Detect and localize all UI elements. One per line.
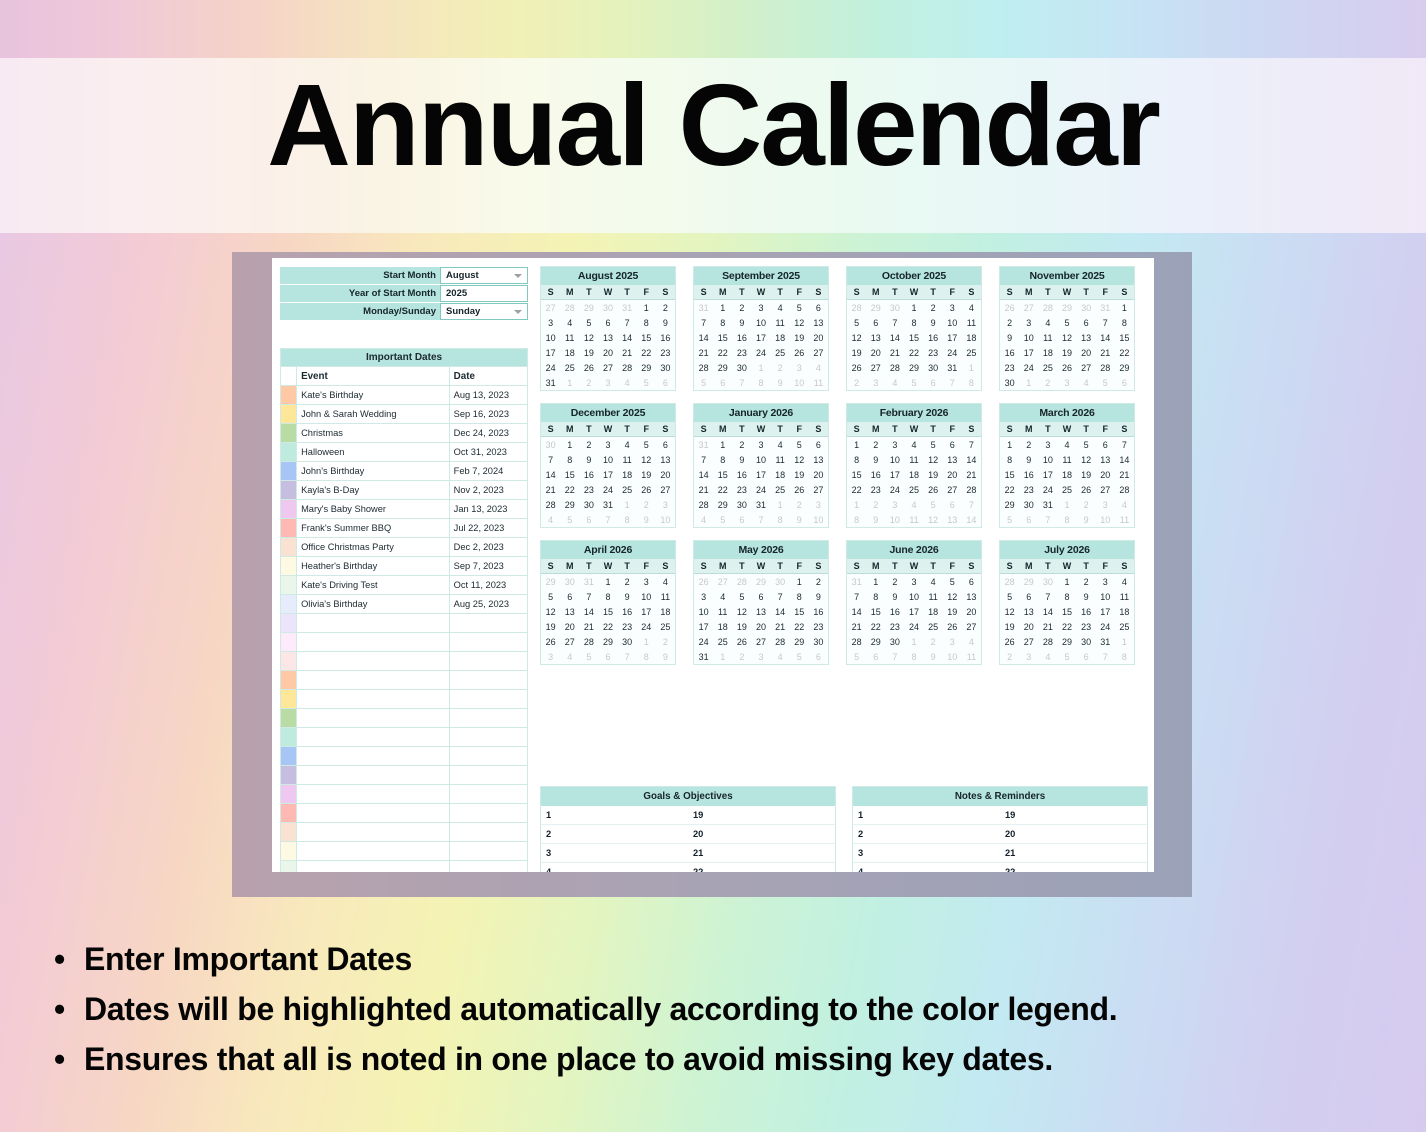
calendar-day[interactable]: 11 (771, 315, 790, 330)
event-row[interactable] (281, 766, 528, 785)
calendar-day-adjacent-month[interactable]: 1 (1115, 634, 1134, 649)
event-name-cell[interactable] (297, 823, 450, 842)
calendar-day[interactable]: 24 (751, 482, 770, 497)
calendar-day[interactable]: 17 (885, 467, 904, 482)
calendar-day-adjacent-month[interactable]: 4 (1115, 497, 1134, 512)
calendar-day[interactable]: 4 (904, 437, 923, 452)
calendar-day[interactable]: 21 (541, 482, 560, 497)
event-name-cell[interactable] (297, 671, 450, 690)
calendar-day[interactable]: 15 (637, 330, 656, 345)
calendar-day-adjacent-month[interactable]: 2 (732, 649, 751, 664)
calendar-day[interactable]: 23 (732, 482, 751, 497)
calendar-day[interactable]: 10 (904, 589, 923, 604)
setting-dropdown[interactable]: Sunday (440, 303, 528, 320)
calendar-day[interactable]: 11 (1057, 452, 1076, 467)
calendar-day[interactable]: 26 (847, 360, 866, 375)
calendar-day[interactable]: 2 (809, 574, 828, 589)
calendar-day[interactable]: 6 (560, 589, 579, 604)
calendar-day[interactable]: 20 (809, 330, 828, 345)
calendar-day[interactable]: 13 (962, 589, 981, 604)
calendar-day[interactable]: 21 (962, 467, 981, 482)
calendar-day[interactable]: 21 (1096, 345, 1115, 360)
calendar-day[interactable]: 4 (1115, 574, 1134, 589)
calendar-day-adjacent-month[interactable]: 30 (560, 574, 579, 589)
calendar-day-adjacent-month[interactable]: 10 (656, 512, 675, 527)
calendar-day[interactable]: 11 (713, 604, 732, 619)
event-row[interactable]: Mary's Baby ShowerJan 13, 2023 (281, 500, 528, 519)
event-date-cell[interactable] (449, 785, 527, 804)
calendar-day[interactable]: 7 (1038, 589, 1057, 604)
calendar-day[interactable]: 14 (885, 330, 904, 345)
calendar-day-adjacent-month[interactable]: 5 (637, 375, 656, 390)
calendar-day[interactable]: 24 (885, 482, 904, 497)
calendar-day[interactable]: 25 (1038, 360, 1057, 375)
setting-input[interactable]: 2025 (440, 285, 528, 302)
calendar-day[interactable]: 27 (1019, 634, 1038, 649)
calendar-day[interactable]: 17 (1019, 345, 1038, 360)
calendar-day[interactable]: 20 (598, 345, 617, 360)
calendar-day[interactable]: 30 (732, 497, 751, 512)
calendar-day[interactable]: 25 (713, 634, 732, 649)
calendar-day[interactable]: 23 (618, 619, 637, 634)
event-row[interactable]: John's BirthdayFeb 7, 2024 (281, 462, 528, 481)
calendar-day-adjacent-month[interactable]: 5 (713, 512, 732, 527)
calendar-day[interactable]: 5 (1000, 589, 1019, 604)
calendar-day[interactable]: 1 (637, 300, 656, 315)
calendar-day[interactable]: 30 (579, 497, 598, 512)
calendar-day[interactable]: 5 (943, 574, 962, 589)
event-date-cell[interactable]: Sep 7, 2023 (449, 557, 527, 576)
calendar-day[interactable]: 18 (962, 330, 981, 345)
event-row[interactable]: Kate's BirthdayAug 13, 2023 (281, 386, 528, 405)
calendar-day-adjacent-month[interactable]: 6 (1115, 375, 1134, 390)
calendar-day[interactable]: 23 (1019, 482, 1038, 497)
calendar-day[interactable]: 19 (1077, 467, 1096, 482)
calendar-day[interactable]: 8 (790, 589, 809, 604)
calendar-day[interactable]: 27 (809, 345, 828, 360)
calendar-day[interactable]: 5 (790, 437, 809, 452)
event-date-cell[interactable]: Oct 11, 2023 (449, 576, 527, 595)
calendar-day[interactable]: 20 (943, 467, 962, 482)
calendar-day[interactable]: 26 (732, 634, 751, 649)
event-date-cell[interactable]: Nov 2, 2023 (449, 481, 527, 500)
calendar-day[interactable]: 28 (885, 360, 904, 375)
calendar-day[interactable]: 25 (904, 482, 923, 497)
calendar-day[interactable]: 2 (1077, 574, 1096, 589)
calendar-day[interactable]: 28 (1096, 360, 1115, 375)
calendar-day[interactable]: 3 (541, 315, 560, 330)
calendar-day[interactable]: 24 (1019, 360, 1038, 375)
calendar-day[interactable]: 7 (694, 452, 713, 467)
calendar-day-adjacent-month[interactable]: 4 (904, 497, 923, 512)
calendar-day[interactable]: 2 (885, 574, 904, 589)
event-date-cell[interactable]: Dec 24, 2023 (449, 424, 527, 443)
calendar-day[interactable]: 24 (943, 345, 962, 360)
calendar-day[interactable]: 26 (1077, 482, 1096, 497)
event-date-cell[interactable] (449, 823, 527, 842)
calendar-day[interactable]: 1 (904, 300, 923, 315)
calendar-day[interactable]: 14 (1038, 604, 1057, 619)
calendar-day[interactable]: 27 (560, 634, 579, 649)
calendar-day-adjacent-month[interactable]: 7 (751, 512, 770, 527)
calendar-day-adjacent-month[interactable]: 26 (694, 574, 713, 589)
calendar-day[interactable]: 15 (1000, 467, 1019, 482)
calendar-day-adjacent-month[interactable]: 2 (847, 375, 866, 390)
calendar-day[interactable]: 21 (1115, 467, 1134, 482)
calendar-day[interactable]: 12 (637, 452, 656, 467)
note-item[interactable]: 3 (853, 844, 1000, 863)
calendar-day[interactable]: 17 (598, 467, 617, 482)
calendar-day-adjacent-month[interactable]: 30 (885, 300, 904, 315)
calendar-day[interactable]: 27 (751, 634, 770, 649)
calendar-day[interactable]: 21 (694, 482, 713, 497)
event-name-cell[interactable]: Christmas (297, 424, 450, 443)
calendar-day[interactable]: 12 (732, 604, 751, 619)
calendar-day[interactable]: 20 (866, 345, 885, 360)
calendar-day[interactable]: 15 (560, 467, 579, 482)
calendar-day[interactable]: 1 (1115, 300, 1134, 315)
calendar-day[interactable]: 11 (560, 330, 579, 345)
event-row[interactable]: Office Christmas PartyDec 2, 2023 (281, 538, 528, 557)
calendar-day[interactable]: 2 (618, 574, 637, 589)
calendar-day-adjacent-month[interactable]: 7 (962, 497, 981, 512)
calendar-day-adjacent-month[interactable]: 12 (924, 512, 943, 527)
calendar-day[interactable]: 5 (1077, 437, 1096, 452)
calendar-day[interactable]: 8 (904, 315, 923, 330)
goal-item[interactable]: 20 (688, 825, 835, 844)
calendar-day[interactable]: 29 (1115, 360, 1134, 375)
calendar-day[interactable]: 19 (541, 619, 560, 634)
calendar-day[interactable]: 14 (694, 330, 713, 345)
event-name-cell[interactable] (297, 766, 450, 785)
calendar-day-adjacent-month[interactable]: 6 (713, 375, 732, 390)
calendar-day-adjacent-month[interactable]: 9 (771, 375, 790, 390)
calendar-day[interactable]: 17 (1096, 604, 1115, 619)
calendar-day[interactable]: 15 (1057, 604, 1076, 619)
event-row[interactable] (281, 633, 528, 652)
goal-item[interactable]: 3 (541, 844, 688, 863)
calendar-day[interactable]: 20 (560, 619, 579, 634)
event-date-cell[interactable] (449, 842, 527, 861)
calendar-day[interactable]: 12 (541, 604, 560, 619)
calendar-day[interactable]: 6 (943, 437, 962, 452)
calendar-day-adjacent-month[interactable]: 3 (598, 375, 617, 390)
calendar-day[interactable]: 14 (541, 467, 560, 482)
event-date-cell[interactable] (449, 747, 527, 766)
event-row[interactable] (281, 652, 528, 671)
calendar-day[interactable]: 24 (904, 619, 923, 634)
calendar-day[interactable]: 22 (904, 345, 923, 360)
calendar-day-adjacent-month[interactable]: 30 (771, 574, 790, 589)
note-item[interactable]: 4 (853, 863, 1000, 872)
calendar-day-adjacent-month[interactable]: 1 (713, 649, 732, 664)
calendar-day[interactable]: 9 (579, 452, 598, 467)
calendar-day-adjacent-month[interactable]: 5 (1057, 649, 1076, 664)
calendar-day-adjacent-month[interactable]: 7 (1038, 512, 1057, 527)
calendar-day[interactable]: 7 (1115, 437, 1134, 452)
calendar-day[interactable]: 27 (1077, 360, 1096, 375)
calendar-day-adjacent-month[interactable]: 8 (1115, 649, 1134, 664)
calendar-day[interactable]: 14 (1115, 452, 1134, 467)
calendar-day-adjacent-month[interactable]: 2 (637, 497, 656, 512)
calendar-day-adjacent-month[interactable]: 6 (943, 497, 962, 512)
note-item[interactable]: 2 (853, 825, 1000, 844)
calendar-day[interactable]: 15 (598, 604, 617, 619)
calendar-day[interactable]: 3 (694, 589, 713, 604)
calendar-day[interactable]: 31 (943, 360, 962, 375)
calendar-day[interactable]: 2 (732, 437, 751, 452)
calendar-day[interactable]: 18 (904, 467, 923, 482)
event-row[interactable] (281, 861, 528, 873)
event-name-cell[interactable] (297, 861, 450, 873)
event-row[interactable]: Frank's Summer BBQJul 22, 2023 (281, 519, 528, 538)
calendar-day[interactable]: 13 (1019, 604, 1038, 619)
calendar-day[interactable]: 17 (751, 467, 770, 482)
calendar-day[interactable]: 16 (1019, 467, 1038, 482)
calendar-day[interactable]: 24 (637, 619, 656, 634)
calendar-day[interactable]: 21 (1038, 619, 1057, 634)
calendar-day[interactable]: 27 (1096, 482, 1115, 497)
calendar-day[interactable]: 2 (924, 300, 943, 315)
event-name-cell[interactable] (297, 633, 450, 652)
calendar-day[interactable]: 6 (598, 315, 617, 330)
calendar-day-adjacent-month[interactable]: 4 (809, 360, 828, 375)
event-row[interactable]: ChristmasDec 24, 2023 (281, 424, 528, 443)
calendar-day[interactable]: 7 (771, 589, 790, 604)
event-name-cell[interactable] (297, 709, 450, 728)
calendar-day-adjacent-month[interactable]: 8 (847, 512, 866, 527)
calendar-day-adjacent-month[interactable]: 3 (541, 649, 560, 664)
calendar-day[interactable]: 27 (656, 482, 675, 497)
event-name-cell[interactable] (297, 804, 450, 823)
calendar-day[interactable]: 2 (579, 437, 598, 452)
calendar-day[interactable]: 25 (924, 619, 943, 634)
calendar-day[interactable]: 15 (713, 467, 732, 482)
calendar-day[interactable]: 28 (1038, 634, 1057, 649)
calendar-day[interactable]: 5 (1057, 315, 1076, 330)
event-date-cell[interactable]: Dec 2, 2023 (449, 538, 527, 557)
calendar-day[interactable]: 6 (809, 300, 828, 315)
calendar-day[interactable]: 16 (924, 330, 943, 345)
calendar-day[interactable]: 29 (713, 497, 732, 512)
calendar-day[interactable]: 8 (713, 315, 732, 330)
calendar-day[interactable]: 26 (637, 482, 656, 497)
calendar-day[interactable]: 15 (847, 467, 866, 482)
calendar-day-adjacent-month[interactable]: 8 (618, 512, 637, 527)
calendar-day-adjacent-month[interactable]: 1 (618, 497, 637, 512)
setting-dropdown[interactable]: August (440, 267, 528, 284)
calendar-day[interactable]: 1 (713, 300, 732, 315)
calendar-day[interactable]: 17 (904, 604, 923, 619)
calendar-day[interactable]: 14 (962, 452, 981, 467)
calendar-day[interactable]: 18 (1115, 604, 1134, 619)
calendar-day[interactable]: 6 (1077, 315, 1096, 330)
calendar-day-adjacent-month[interactable]: 3 (790, 360, 809, 375)
calendar-day[interactable]: 5 (847, 315, 866, 330)
calendar-day[interactable]: 17 (694, 619, 713, 634)
calendar-day[interactable]: 24 (751, 345, 770, 360)
calendar-day[interactable]: 24 (1038, 482, 1057, 497)
event-name-cell[interactable]: John & Sarah Wedding (297, 405, 450, 424)
calendar-day-adjacent-month[interactable]: 4 (771, 649, 790, 664)
calendar-day[interactable]: 30 (1019, 497, 1038, 512)
calendar-day-adjacent-month[interactable]: 4 (962, 634, 981, 649)
calendar-day[interactable]: 11 (962, 315, 981, 330)
calendar-day-adjacent-month[interactable]: 6 (656, 375, 675, 390)
calendar-day[interactable]: 13 (943, 452, 962, 467)
calendar-day-adjacent-month[interactable]: 1 (751, 360, 770, 375)
event-date-cell[interactable]: Sep 16, 2023 (449, 405, 527, 424)
calendar-day-adjacent-month[interactable]: 4 (618, 375, 637, 390)
calendar-day[interactable]: 5 (637, 437, 656, 452)
calendar-day[interactable]: 3 (598, 437, 617, 452)
calendar-day[interactable]: 3 (885, 437, 904, 452)
calendar-day[interactable]: 8 (1115, 315, 1134, 330)
calendar-day[interactable]: 14 (694, 467, 713, 482)
calendar-day-adjacent-month[interactable]: 26 (1000, 300, 1019, 315)
event-name-cell[interactable]: Frank's Summer BBQ (297, 519, 450, 538)
calendar-day[interactable]: 16 (618, 604, 637, 619)
calendar-day[interactable]: 15 (1115, 330, 1134, 345)
calendar-day[interactable]: 13 (751, 604, 770, 619)
event-row[interactable]: Olivia's BirthdayAug 25, 2023 (281, 595, 528, 614)
calendar-day-adjacent-month[interactable]: 2 (790, 497, 809, 512)
chevron-down-icon[interactable] (514, 274, 522, 278)
calendar-day[interactable]: 16 (1000, 345, 1019, 360)
calendar-day[interactable]: 15 (866, 604, 885, 619)
calendar-day[interactable]: 26 (943, 619, 962, 634)
calendar-day[interactable]: 20 (656, 467, 675, 482)
calendar-day-adjacent-month[interactable]: 2 (579, 375, 598, 390)
calendar-day-adjacent-month[interactable]: 11 (1115, 512, 1134, 527)
calendar-day[interactable]: 30 (885, 634, 904, 649)
calendar-day[interactable]: 1 (866, 574, 885, 589)
event-name-cell[interactable]: Olivia's Birthday (297, 595, 450, 614)
calendar-day[interactable]: 17 (541, 345, 560, 360)
calendar-day[interactable]: 27 (866, 360, 885, 375)
note-item[interactable]: 19 (1000, 806, 1147, 825)
calendar-day[interactable]: 20 (1096, 467, 1115, 482)
event-date-cell[interactable] (449, 671, 527, 690)
calendar-day[interactable]: 20 (751, 619, 770, 634)
calendar-day[interactable]: 25 (1057, 482, 1076, 497)
calendar-day[interactable]: 14 (847, 604, 866, 619)
calendar-day[interactable]: 9 (809, 589, 828, 604)
goal-item[interactable]: 19 (688, 806, 835, 825)
calendar-day[interactable]: 10 (885, 452, 904, 467)
calendar-day[interactable]: 19 (1057, 345, 1076, 360)
calendar-day[interactable]: 29 (904, 360, 923, 375)
calendar-day[interactable]: 22 (866, 619, 885, 634)
calendar-day-adjacent-month[interactable]: 2 (866, 497, 885, 512)
calendar-day-adjacent-month[interactable]: 3 (885, 497, 904, 512)
calendar-day[interactable]: 6 (656, 437, 675, 452)
calendar-day[interactable]: 19 (790, 467, 809, 482)
calendar-day[interactable]: 3 (1038, 437, 1057, 452)
calendar-day-adjacent-month[interactable]: 6 (809, 649, 828, 664)
calendar-day[interactable]: 20 (809, 467, 828, 482)
calendar-day[interactable]: 8 (866, 589, 885, 604)
calendar-day[interactable]: 11 (618, 452, 637, 467)
calendar-day[interactable]: 15 (790, 604, 809, 619)
calendar-day-adjacent-month[interactable]: 8 (771, 512, 790, 527)
calendar-day[interactable]: 28 (541, 497, 560, 512)
goal-item[interactable]: 4 (541, 863, 688, 872)
calendar-day[interactable]: 9 (885, 589, 904, 604)
calendar-day[interactable]: 20 (962, 604, 981, 619)
calendar-day-adjacent-month[interactable]: 8 (637, 649, 656, 664)
calendar-day[interactable]: 27 (598, 360, 617, 375)
calendar-day[interactable]: 13 (656, 452, 675, 467)
calendar-day-adjacent-month[interactable]: 10 (943, 649, 962, 664)
event-name-cell[interactable]: Office Christmas Party (297, 538, 450, 557)
calendar-day[interactable]: 7 (1096, 315, 1115, 330)
calendar-day[interactable]: 19 (1000, 619, 1019, 634)
calendar-day[interactable]: 30 (618, 634, 637, 649)
calendar-day[interactable]: 26 (1057, 360, 1076, 375)
calendar-day[interactable]: 9 (618, 589, 637, 604)
calendar-day[interactable]: 18 (1057, 467, 1076, 482)
calendar-day-adjacent-month[interactable]: 9 (656, 649, 675, 664)
calendar-day[interactable]: 18 (656, 604, 675, 619)
calendar-day[interactable]: 12 (1000, 604, 1019, 619)
calendar-day[interactable]: 28 (771, 634, 790, 649)
event-date-cell[interactable]: Oct 31, 2023 (449, 443, 527, 462)
calendar-day[interactable]: 4 (713, 589, 732, 604)
calendar-day[interactable]: 13 (598, 330, 617, 345)
calendar-day[interactable]: 14 (1096, 330, 1115, 345)
calendar-day[interactable]: 11 (1115, 589, 1134, 604)
calendar-day-adjacent-month[interactable]: 3 (943, 634, 962, 649)
calendar-day[interactable]: 4 (560, 315, 579, 330)
calendar-day[interactable]: 16 (866, 467, 885, 482)
calendar-day-adjacent-month[interactable]: 31 (579, 574, 598, 589)
calendar-day[interactable]: 10 (1096, 589, 1115, 604)
calendar-day[interactable]: 2 (1000, 315, 1019, 330)
calendar-day[interactable]: 9 (1077, 589, 1096, 604)
calendar-day[interactable]: 18 (771, 467, 790, 482)
calendar-day[interactable]: 3 (1019, 315, 1038, 330)
calendar-day-adjacent-month[interactable]: 5 (579, 649, 598, 664)
calendar-day[interactable]: 4 (962, 300, 981, 315)
calendar-day-adjacent-month[interactable]: 4 (541, 512, 560, 527)
event-date-cell[interactable] (449, 861, 527, 873)
calendar-day[interactable]: 16 (885, 604, 904, 619)
calendar-day-adjacent-month[interactable]: 6 (1019, 512, 1038, 527)
calendar-day-adjacent-month[interactable]: 30 (541, 437, 560, 452)
calendar-day-adjacent-month[interactable]: 28 (1000, 574, 1019, 589)
calendar-day[interactable]: 26 (1000, 634, 1019, 649)
calendar-day-adjacent-month[interactable]: 4 (694, 512, 713, 527)
calendar-day-adjacent-month[interactable]: 2 (771, 360, 790, 375)
calendar-day[interactable]: 28 (694, 497, 713, 512)
calendar-day[interactable]: 25 (656, 619, 675, 634)
calendar-day[interactable]: 26 (541, 634, 560, 649)
event-row[interactable] (281, 785, 528, 804)
calendar-day-adjacent-month[interactable]: 1 (847, 497, 866, 512)
calendar-day[interactable]: 9 (732, 452, 751, 467)
calendar-day-adjacent-month[interactable]: 27 (541, 300, 560, 315)
calendar-day[interactable]: 23 (732, 345, 751, 360)
calendar-day[interactable]: 5 (541, 589, 560, 604)
calendar-day-adjacent-month[interactable]: 9 (790, 512, 809, 527)
calendar-day-adjacent-month[interactable]: 1 (1019, 375, 1038, 390)
calendar-day[interactable]: 29 (790, 634, 809, 649)
calendar-day-adjacent-month[interactable]: 3 (1019, 649, 1038, 664)
calendar-day[interactable]: 5 (579, 315, 598, 330)
calendar-day-adjacent-month[interactable]: 27 (1019, 300, 1038, 315)
calendar-day[interactable]: 19 (847, 345, 866, 360)
